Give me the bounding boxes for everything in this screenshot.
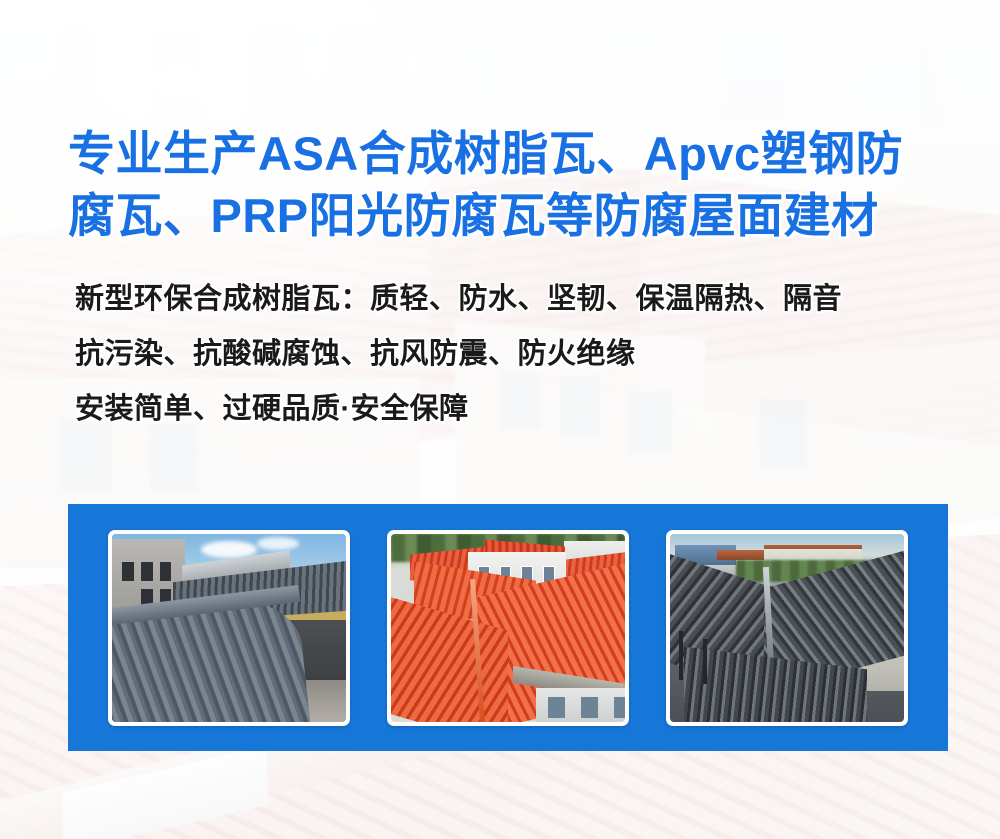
photo2-window [614, 697, 625, 719]
photo-frame-2[interactable] [387, 530, 629, 726]
headline-line-2: 腐瓦、PRP阳光防腐瓦等防腐屋面建材 [68, 185, 948, 247]
promo-banner: 专业生产ASA合成树脂瓦、Apvc塑钢防 腐瓦、PRP阳光防腐瓦等防腐屋面建材 … [0, 0, 1000, 839]
photo-frame-3[interactable] [666, 530, 908, 726]
photo1-window [141, 562, 153, 582]
photo-dark-grey-tile-roofs [670, 534, 904, 722]
headline: 专业生产ASA合成树脂瓦、Apvc塑钢防 腐瓦、PRP阳光防腐瓦等防腐屋面建材 [68, 123, 948, 247]
subcopy: 新型环保合成树脂瓦：质轻、防水、坚韧、保温隔热、隔音 抗污染、抗酸碱腐蚀、抗风防… [75, 272, 955, 437]
photo3-far-red-roof-left [717, 550, 764, 559]
photo2-bottom-building [536, 688, 625, 722]
photo2-window [581, 697, 597, 719]
subcopy-line-3: 安装简单、过硬品质·安全保障 [75, 382, 955, 437]
photo2-window [548, 697, 564, 719]
headline-line-1: 专业生产ASA合成树脂瓦、Apvc塑钢防 [68, 123, 948, 185]
photo3-support-post [703, 639, 707, 684]
photo-gallery-panel [68, 504, 948, 751]
photo1-window [122, 562, 134, 582]
photo-red-tile-roofs-aerial [391, 534, 625, 722]
subcopy-line-2: 抗污染、抗酸碱腐蚀、抗风防震、防火绝缘 [75, 327, 955, 382]
subcopy-line-1: 新型环保合成树脂瓦：质轻、防水、坚韧、保温隔热、隔音 [75, 272, 955, 327]
photo3-support-post [679, 631, 683, 680]
photo-frame-1[interactable] [108, 530, 350, 726]
photo-grey-barrel-tile-roof [112, 534, 346, 722]
photo1-window [160, 562, 172, 582]
